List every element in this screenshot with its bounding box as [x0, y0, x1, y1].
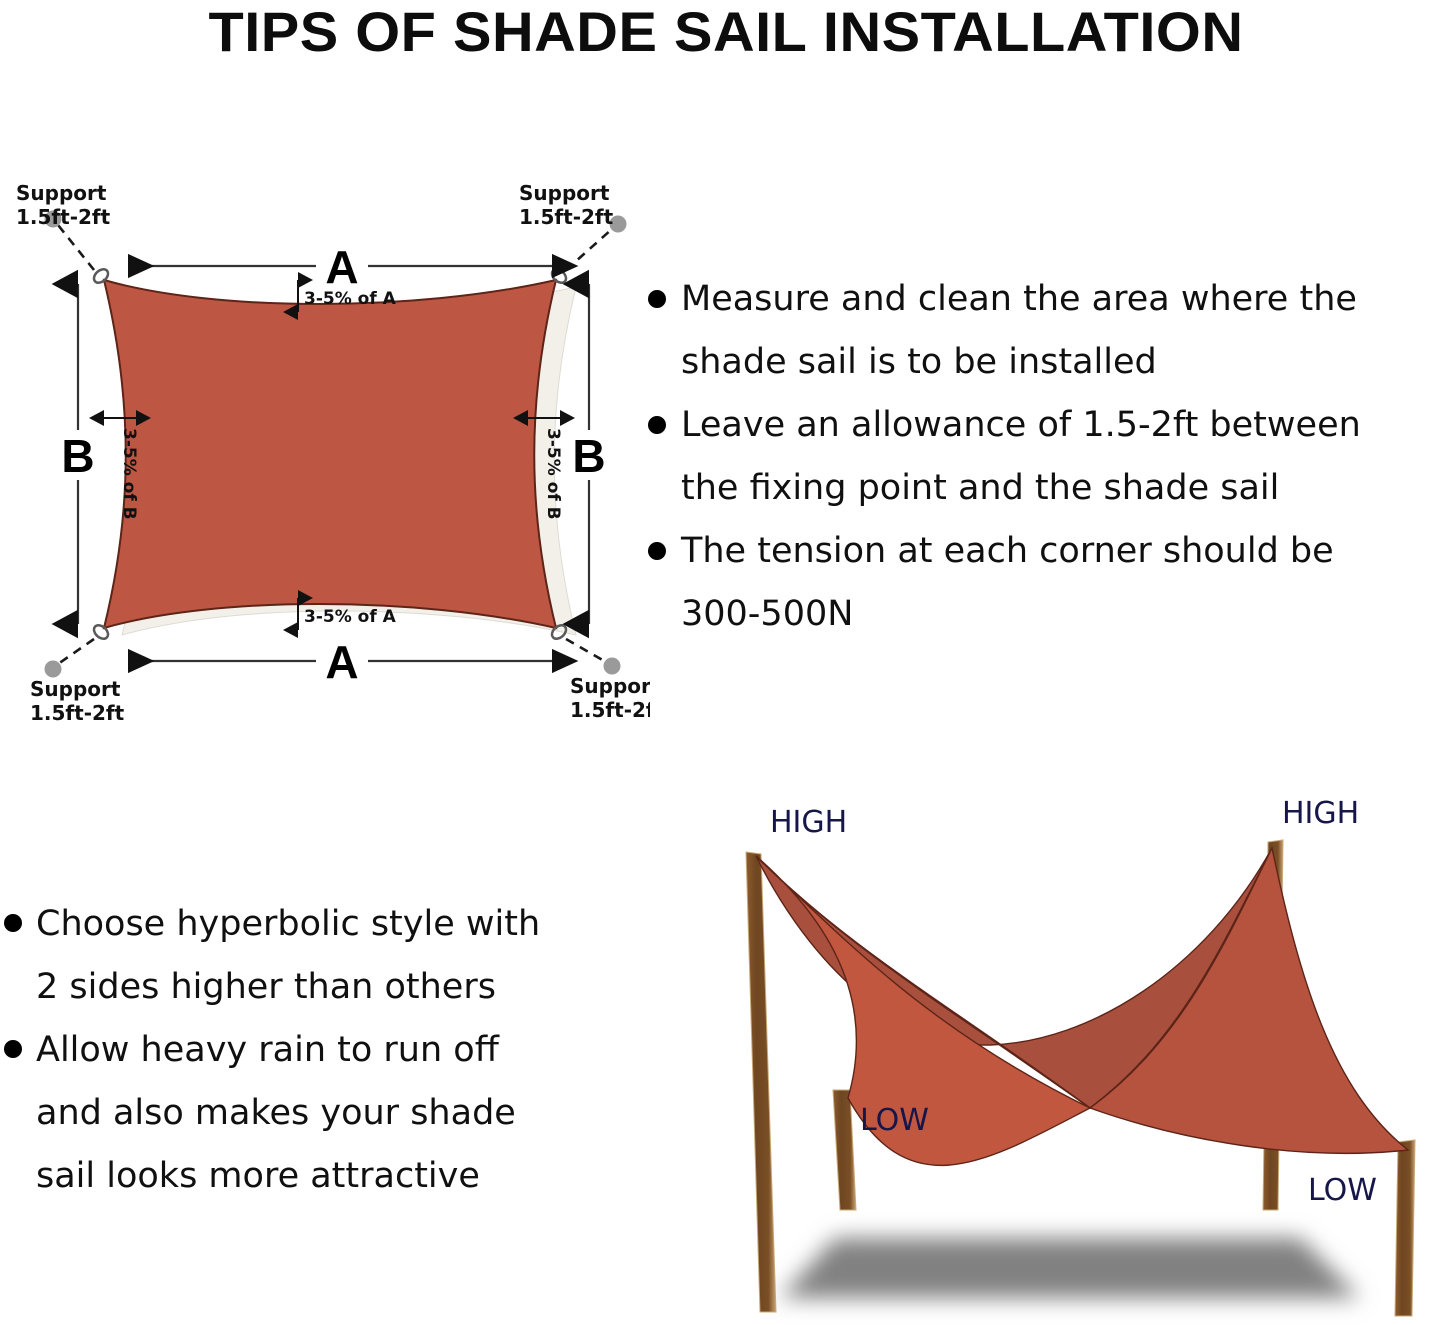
list-item-text: The tension at each corner should be 300… — [681, 520, 1452, 646]
support-label-line1: Support — [519, 181, 610, 205]
support-label-line1: Support — [16, 181, 107, 205]
dimension-label-B-right: B — [572, 430, 605, 482]
label-high-left: HIGH — [770, 805, 847, 840]
bullet-dot-icon — [648, 542, 666, 560]
bullet-dot-icon — [4, 1040, 22, 1058]
label-low-right: LOW — [1308, 1173, 1377, 1208]
curvature-label-left: 3-5% of B — [119, 428, 139, 520]
bullet-dot-icon — [4, 914, 22, 932]
support-label-bottom-left: Support 1.5ft-2ft — [30, 677, 125, 725]
ground-shadow — [780, 1238, 1360, 1298]
bullet-dot-icon — [648, 416, 666, 434]
support-label-bottom-right: Support 1.5ft-2ft — [570, 674, 650, 722]
support-label-top-left: Support 1.5ft-2ft — [16, 181, 111, 229]
shade-sail-body — [104, 280, 556, 628]
hypar-sail-diagram: HIGH HIGH LOW LOW — [660, 790, 1452, 1325]
dimension-height-right: B — [572, 284, 605, 624]
support-label-line2: 1.5ft-2ft — [519, 205, 614, 229]
post-high-left — [746, 852, 776, 1312]
support-label-line2: 1.5ft-2ft — [16, 205, 111, 229]
dimension-width-bottom: A — [128, 636, 552, 688]
support-label-line2: 1.5ft-2ft — [570, 698, 650, 722]
hyperbolic-style-tips-list: Choose hyperbolic style with 2 sides hig… — [4, 893, 624, 1208]
support-dot-bottom-right — [604, 658, 621, 675]
sail-membrane — [756, 848, 1408, 1165]
support-label-top-right: Support 1.5ft-2ft — [519, 181, 614, 229]
curvature-left: 3-5% of B — [104, 418, 139, 520]
dimension-width-top: A — [128, 241, 552, 293]
label-low-left: LOW — [860, 1103, 929, 1138]
list-item: The tension at each corner should be 300… — [648, 520, 1452, 646]
bullet-dot-icon — [648, 290, 666, 308]
support-label-line1: Support — [570, 674, 650, 698]
list-item-text: Measure and clean the area where the sha… — [681, 268, 1452, 394]
dimension-height-left: B — [61, 284, 94, 624]
installation-tips-list: Measure and clean the area where the sha… — [648, 268, 1452, 646]
post-low-right — [1395, 1140, 1415, 1316]
curvature-label-right: 3-5% of B — [543, 428, 563, 520]
support-label-line1: Support — [30, 677, 121, 701]
support-dot-bottom-left — [45, 661, 62, 678]
support-label-line2: 1.5ft-2ft — [30, 701, 125, 725]
page-title: TIPS OF SHADE SAIL INSTALLATION — [0, 2, 1452, 62]
list-item-text: Leave an allowance of 1.5-2ft between th… — [681, 394, 1452, 520]
post-low-left — [833, 1090, 856, 1210]
dimension-label-A-bottom: A — [325, 636, 358, 688]
dimension-label-B-left: B — [61, 430, 94, 482]
rect-sail-diagram: Support 1.5ft-2ft Support 1.5ft-2ft Supp… — [0, 150, 650, 740]
dimension-label-A-top: A — [325, 241, 358, 293]
label-high-right: HIGH — [1282, 796, 1359, 831]
curvature-label-bottom: 3-5% of A — [304, 607, 397, 627]
list-item-text: Allow heavy rain to run off and also mak… — [36, 1019, 624, 1208]
list-item-text: Choose hyperbolic style with 2 sides hig… — [36, 893, 624, 1019]
list-item: Measure and clean the area where the sha… — [648, 268, 1452, 394]
infographic-page: TIPS OF SHADE SAIL INSTALLATION — [0, 0, 1452, 1325]
list-item: Allow heavy rain to run off and also mak… — [4, 1019, 624, 1208]
list-item: Leave an allowance of 1.5-2ft between th… — [648, 394, 1452, 520]
list-item: Choose hyperbolic style with 2 sides hig… — [4, 893, 624, 1019]
curvature-label-top: 3-5% of A — [304, 289, 397, 309]
